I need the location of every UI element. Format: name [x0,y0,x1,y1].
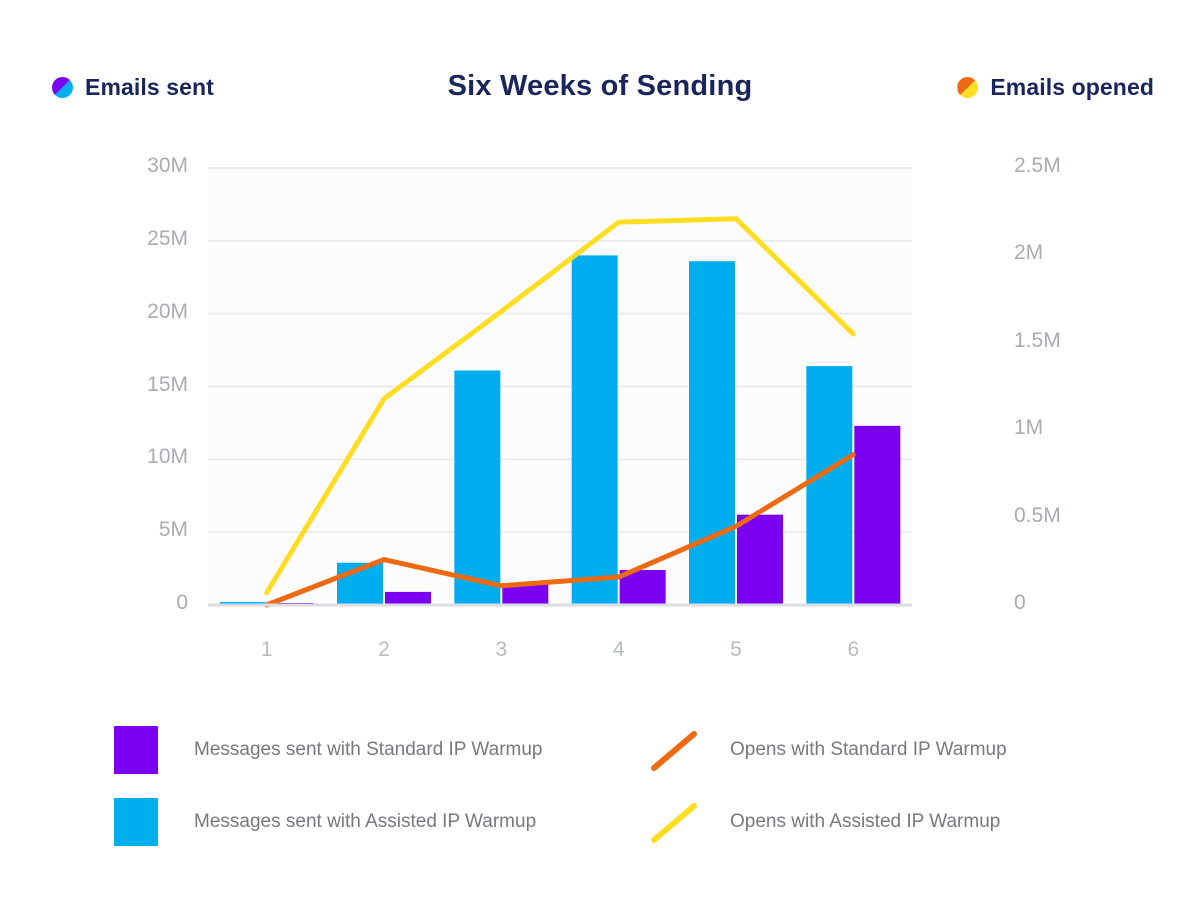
y-axis-left-tick: 15M [98,373,188,397]
legend-swatch-blue [114,798,158,846]
x-axis-tick: 3 [481,638,521,662]
bar-standard [854,426,900,605]
x-axis-tick: 1 [247,638,287,662]
x-axis-tick: 5 [716,638,756,662]
bar-standard [737,515,783,605]
bar-assisted [572,255,618,605]
chart-legend: Messages sent with Standard IP Warmup Me… [0,712,1200,872]
bar-assisted [689,261,735,605]
y-axis-left-tick: 30M [98,154,188,178]
legend-item-standard-line[interactable]: Opens with Standard IP Warmup [648,726,1007,774]
legend-swatch-orange-line [648,726,702,774]
x-axis-tick: 6 [833,638,873,662]
legend-item-label: Messages sent with Assisted IP Warmup [194,811,536,833]
bar-assisted [454,370,500,605]
y-axis-left-tick: 25M [98,227,188,251]
legend-item-standard-bar[interactable]: Messages sent with Standard IP Warmup [114,726,543,774]
y-axis-right-tick: 2.5M [1014,154,1124,178]
bar-assisted [806,366,852,605]
chart-plot-area: 05M10M15M20M25M30M 00.5M1M1.5M2M2.5M 123… [0,0,1200,700]
y-axis-left-tick: 10M [98,445,188,469]
legend-item-label: Messages sent with Standard IP Warmup [194,739,543,761]
bar-standard [385,592,431,605]
y-axis-left-tick: 20M [98,300,188,324]
y-axis-right-tick: 2M [1014,241,1124,265]
x-axis-tick: 2 [364,638,404,662]
y-axis-left-tick: 0 [98,591,188,615]
legend-item-assisted-line[interactable]: Opens with Assisted IP Warmup [648,798,1000,846]
y-axis-left-tick: 5M [98,518,188,542]
y-axis-right-tick: 0.5M [1014,504,1124,528]
y-axis-right-tick: 1.5M [1014,329,1124,353]
legend-item-label: Opens with Assisted IP Warmup [730,811,1000,833]
legend-item-label: Opens with Standard IP Warmup [730,739,1007,761]
legend-swatch-purple [114,726,158,774]
x-axis-tick: 4 [599,638,639,662]
y-axis-right-tick: 1M [1014,416,1124,440]
y-axis-right-tick: 0 [1014,591,1124,615]
legend-item-assisted-bar[interactable]: Messages sent with Assisted IP Warmup [114,798,536,846]
legend-swatch-yellow-line [648,798,702,846]
